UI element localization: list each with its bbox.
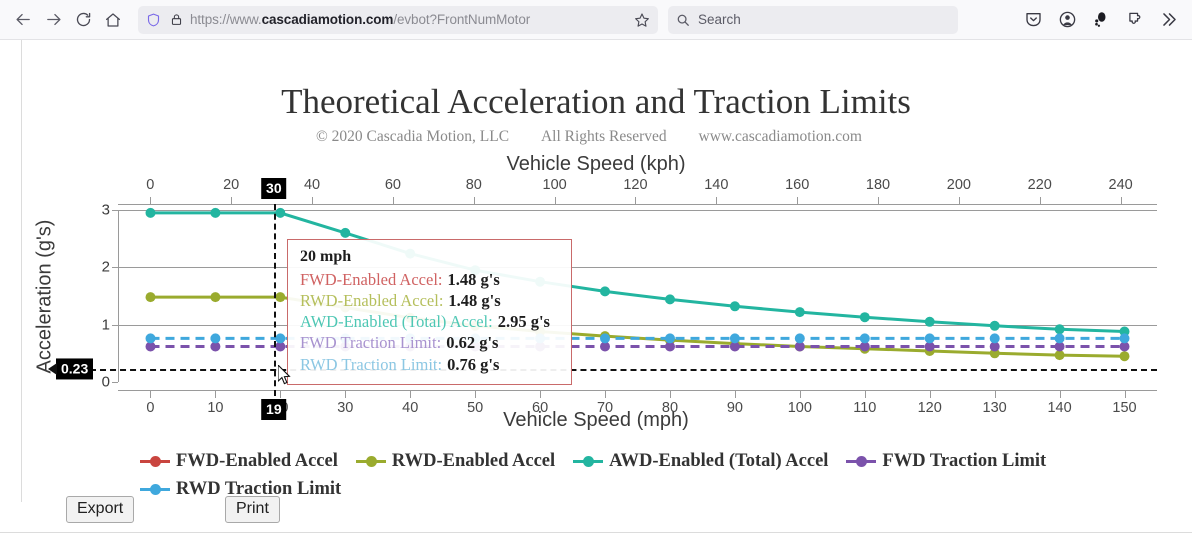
tooltip-row-3: FWD Traction Limit:0.62 g's <box>300 332 560 353</box>
legend-marker-0 <box>140 454 170 468</box>
legend-marker-4 <box>140 482 170 496</box>
page-content: Theoretical Acceleration and Traction Li… <box>0 40 1192 502</box>
series-point-4-14[interactable] <box>1055 333 1065 343</box>
star-icon[interactable] <box>632 10 652 30</box>
series-point-1-1[interactable] <box>210 292 220 302</box>
series-point-2-14[interactable] <box>1055 324 1065 334</box>
series-point-2-2[interactable] <box>275 208 285 218</box>
reload-icon[interactable] <box>68 5 98 35</box>
url-text: https://www.cascadiamotion.com/evbot?Fro… <box>190 12 632 27</box>
url-prefix: https://www. <box>190 12 262 27</box>
overflow-chevrons-icon[interactable] <box>1156 7 1182 33</box>
tooltip-value-1: 1.48 g's <box>448 291 500 310</box>
crosshair-label-kph: 30 <box>261 178 287 199</box>
mouse-cursor <box>278 365 292 386</box>
padlock-icon[interactable] <box>170 12 183 27</box>
legend-label-0: FWD-Enabled Accel <box>176 448 338 474</box>
series-point-2-10[interactable] <box>795 307 805 317</box>
series-point-1-14[interactable] <box>1055 350 1065 360</box>
legend-marker-2 <box>573 454 603 468</box>
tooltip-value-3: 0.62 g's <box>446 333 498 352</box>
series-point-1-0[interactable] <box>146 292 156 302</box>
forward-arrow-icon[interactable] <box>38 5 68 35</box>
search-input[interactable]: Search <box>698 12 741 27</box>
home-icon[interactable] <box>98 5 128 35</box>
series-point-1-2[interactable] <box>275 292 285 302</box>
series-point-2-9[interactable] <box>730 301 740 311</box>
browser-toolbar: https://www.cascadiamotion.com/evbot?Fro… <box>0 0 1192 40</box>
account-circle-icon[interactable] <box>1054 7 1080 33</box>
tracking-protection-shield-icon[interactable] <box>146 12 161 28</box>
series-point-4-13[interactable] <box>990 333 1000 343</box>
series-point-2-11[interactable] <box>860 312 870 322</box>
series-point-2-13[interactable] <box>990 321 1000 331</box>
address-bar[interactable]: https://www.cascadiamotion.com/evbot?Fro… <box>138 6 658 34</box>
pocket-save-icon[interactable] <box>1020 7 1046 33</box>
legend-label-1: RWD-Enabled Accel <box>392 448 555 474</box>
legend-item-1[interactable]: RWD-Enabled Accel <box>356 448 555 474</box>
series-point-4-8[interactable] <box>665 333 675 343</box>
series-point-2-1[interactable] <box>210 208 220 218</box>
legend-marker-1 <box>356 454 386 468</box>
series-point-2-12[interactable] <box>925 317 935 327</box>
series-point-1-15[interactable] <box>1120 351 1130 361</box>
print-button[interactable]: Print <box>225 496 280 523</box>
url-path: /evbot?FrontNumMotor <box>393 12 530 27</box>
tooltip-value-0: 1.48 g's <box>448 270 500 289</box>
tooltip-row-2: AWD-Enabled (Total) Accel:2.95 g's <box>300 311 560 332</box>
legend-label-2: AWD-Enabled (Total) Accel <box>609 448 828 474</box>
crosshair-y-arrow <box>48 363 58 375</box>
series-point-4-11[interactable] <box>860 333 870 343</box>
series-point-2-8[interactable] <box>665 294 675 304</box>
series-point-4-7[interactable] <box>600 333 610 343</box>
url-domain: cascadiamotion.com <box>262 12 394 27</box>
search-bar[interactable]: Search <box>668 6 958 34</box>
export-button[interactable]: Export <box>66 496 134 523</box>
legend-item-0[interactable]: FWD-Enabled Accel <box>140 448 338 474</box>
chart-tooltip: 20 mph FWD-Enabled Accel:1.48 g'sRWD-Ena… <box>287 239 572 385</box>
series-point-2-7[interactable] <box>600 286 610 296</box>
tooltip-row-1: RWD-Enabled Accel:1.48 g's <box>300 290 560 311</box>
tooltip-label-4: RWD Traction Limit: <box>300 355 442 374</box>
crosshair-vertical <box>274 204 276 396</box>
series-point-4-10[interactable] <box>795 333 805 343</box>
chart-series-layer <box>0 40 1192 502</box>
legend-marker-3 <box>846 454 876 468</box>
tooltip-value-4: 0.76 g's <box>447 355 499 374</box>
crosshair-label-mph: 19 <box>261 399 287 420</box>
chart-legend: FWD-Enabled Accel RWD-Enabled Accel AWD-… <box>140 448 1130 504</box>
tooltip-row-4: RWD Traction Limit:0.76 g's <box>300 354 560 375</box>
series-point-2-3[interactable] <box>340 228 350 238</box>
tooltip-header: 20 mph <box>300 247 560 268</box>
series-point-4-0[interactable] <box>146 333 156 343</box>
tooltip-row-0: FWD-Enabled Accel:1.48 g's <box>300 269 560 290</box>
tooltip-label-0: FWD-Enabled Accel: <box>300 270 443 289</box>
tooltip-rows: FWD-Enabled Accel:1.48 g'sRWD-Enabled Ac… <box>300 269 560 375</box>
series-point-4-1[interactable] <box>210 333 220 343</box>
series-point-4-15[interactable] <box>1120 333 1130 343</box>
tooltip-label-1: RWD-Enabled Accel: <box>300 291 443 310</box>
tooltip-label-2: AWD-Enabled (Total) Accel: <box>300 312 493 331</box>
legend-item-3[interactable]: FWD Traction Limit <box>846 448 1046 474</box>
crosshair-label-y: 0.23 <box>56 358 93 379</box>
search-icon <box>676 13 690 27</box>
series-point-4-2[interactable] <box>275 333 285 343</box>
extensions-puzzle-icon[interactable] <box>1122 7 1148 33</box>
tooltip-value-2: 2.95 g's <box>498 312 550 331</box>
legend-label-3: FWD Traction Limit <box>882 448 1046 474</box>
tooltip-label-3: FWD Traction Limit: <box>300 333 441 352</box>
toolbar-icon-group <box>1020 7 1184 33</box>
crosshair-horizontal <box>90 369 1157 371</box>
back-arrow-icon[interactable] <box>8 5 38 35</box>
series-point-4-9[interactable] <box>730 333 740 343</box>
series-point-2-0[interactable] <box>146 208 156 218</box>
legend-item-2[interactable]: AWD-Enabled (Total) Accel <box>573 448 828 474</box>
gnome-footprint-icon[interactable] <box>1088 7 1114 33</box>
series-point-4-12[interactable] <box>925 333 935 343</box>
